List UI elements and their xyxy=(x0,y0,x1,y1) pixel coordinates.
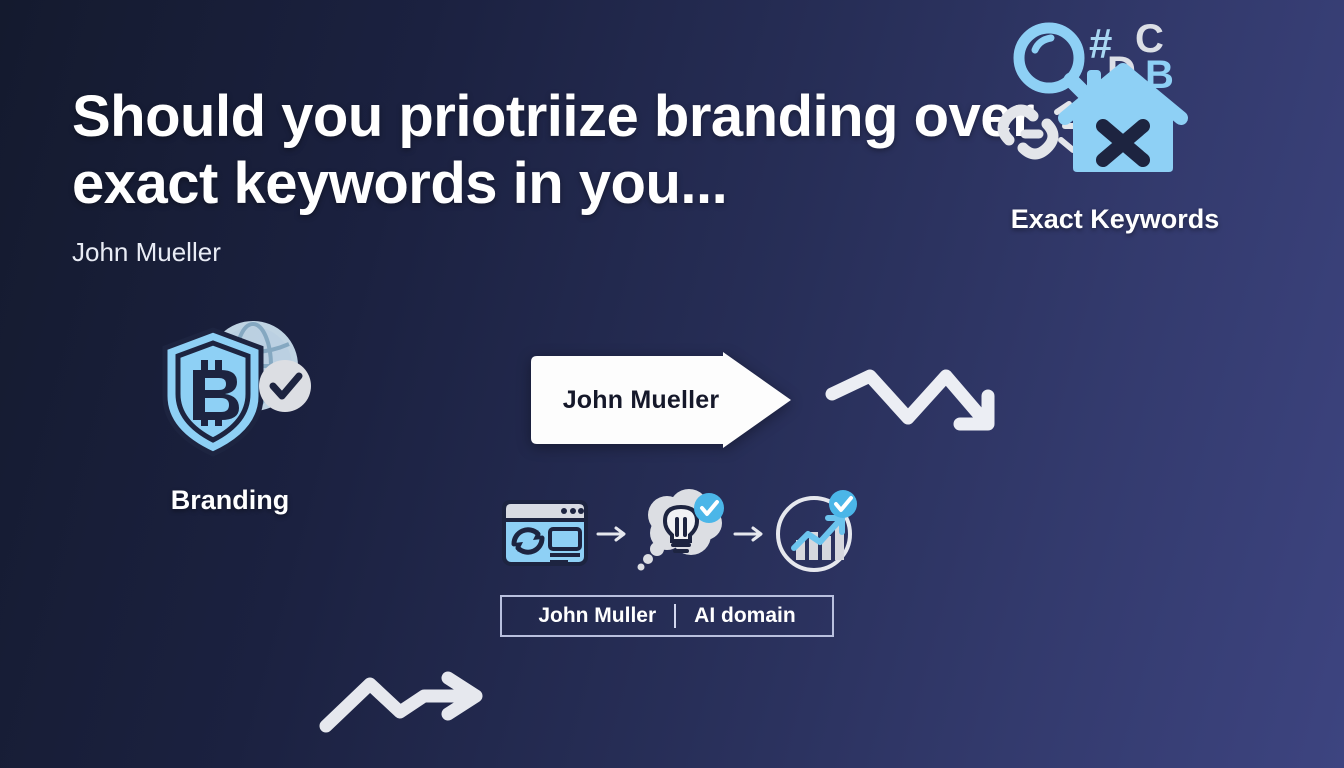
caption-separator xyxy=(674,604,676,628)
mini-flow xyxy=(500,486,860,582)
flow-node-branding-label: Branding xyxy=(171,485,290,516)
shield-bitcoin-icon xyxy=(145,314,315,469)
flow-node-exact-keywords: # C D B xyxy=(985,8,1245,235)
caption-chip: John Muller AI domain xyxy=(500,595,834,637)
banner-arrow-right[interactable]: John Mueller xyxy=(527,352,795,448)
mini-arrow-1-icon xyxy=(593,526,633,542)
exact-keywords-icon-cluster: # C D B xyxy=(995,8,1235,188)
page-subtitle: John Mueller xyxy=(72,237,1172,268)
magnifier-icon xyxy=(1019,28,1095,104)
flow-node-exact-keywords-label: Exact Keywords xyxy=(1011,204,1220,235)
zigzag-arrow-rising-right-icon xyxy=(312,660,492,745)
zigzag-arrow-falling-right-icon xyxy=(822,362,1022,453)
caption-right-text: AI domain xyxy=(694,604,796,628)
flow-node-branding: Branding xyxy=(130,314,330,516)
thought-bubble-lightbulb-icon xyxy=(635,487,727,582)
browser-refresh-icon xyxy=(500,496,590,573)
banner-arrow-label: John Mueller xyxy=(527,352,755,448)
mini-arrow-2-icon xyxy=(730,526,770,542)
slide-canvas: Should you priotriize branding over exac… xyxy=(0,0,1344,768)
growth-chart-circle-icon xyxy=(772,488,860,581)
caption-left-text: John Muller xyxy=(538,604,656,628)
